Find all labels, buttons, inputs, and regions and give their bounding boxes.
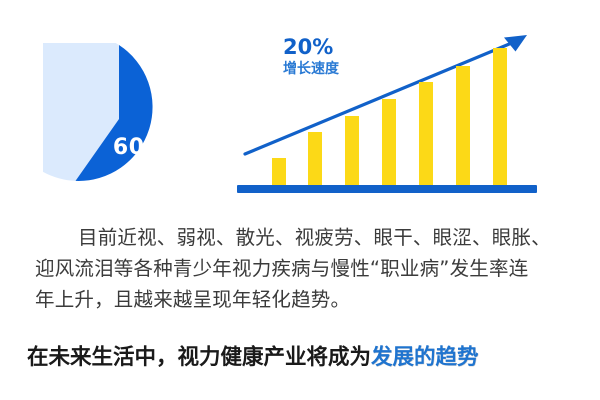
bar-2 — [308, 132, 322, 190]
bar-3 — [345, 116, 359, 190]
bar-4 — [382, 99, 396, 190]
infographic-graphics: 60% 20% — [0, 0, 600, 212]
pie-value-label: 60% — [43, 135, 195, 160]
pie-chart-svg — [43, 43, 195, 195]
headline: 在未来生活中，视力健康产业将成为发展的趋势 — [27, 343, 587, 373]
growth-label: 增长速度 — [283, 62, 403, 78]
growth-percent: 20% — [283, 36, 403, 60]
bar-7 — [493, 48, 507, 190]
headline-accent: 发展的趋势 — [371, 345, 479, 370]
body-copy: 目前近视、弱视、散光、视疲劳、眼干、眼涩、眼胀、 迎风流泪等各种青少年视力疾病与… — [0, 222, 600, 315]
bar-5 — [419, 82, 433, 190]
chart-baseline — [237, 185, 537, 193]
pie-chart: 60% — [43, 43, 195, 195]
headline-prefix: 在未来生活中，视力健康产业将成为 — [27, 345, 371, 370]
poster-canvas: 60% 20% — [0, 0, 600, 400]
growth-callout: 20% 增长速度 — [283, 36, 403, 77]
body-copy-line-1: 目前近视、弱视、散光、视疲劳、眼干、眼涩、眼胀、 — [0, 222, 600, 253]
body-copy-line-2: 迎风流泪等各种青少年视力疾病与慢性“职业病”发生率连 — [0, 253, 600, 284]
body-copy-line-3: 年上升，且越来越呈现年轻化趋势。 — [0, 284, 600, 315]
bar-6 — [456, 66, 470, 190]
